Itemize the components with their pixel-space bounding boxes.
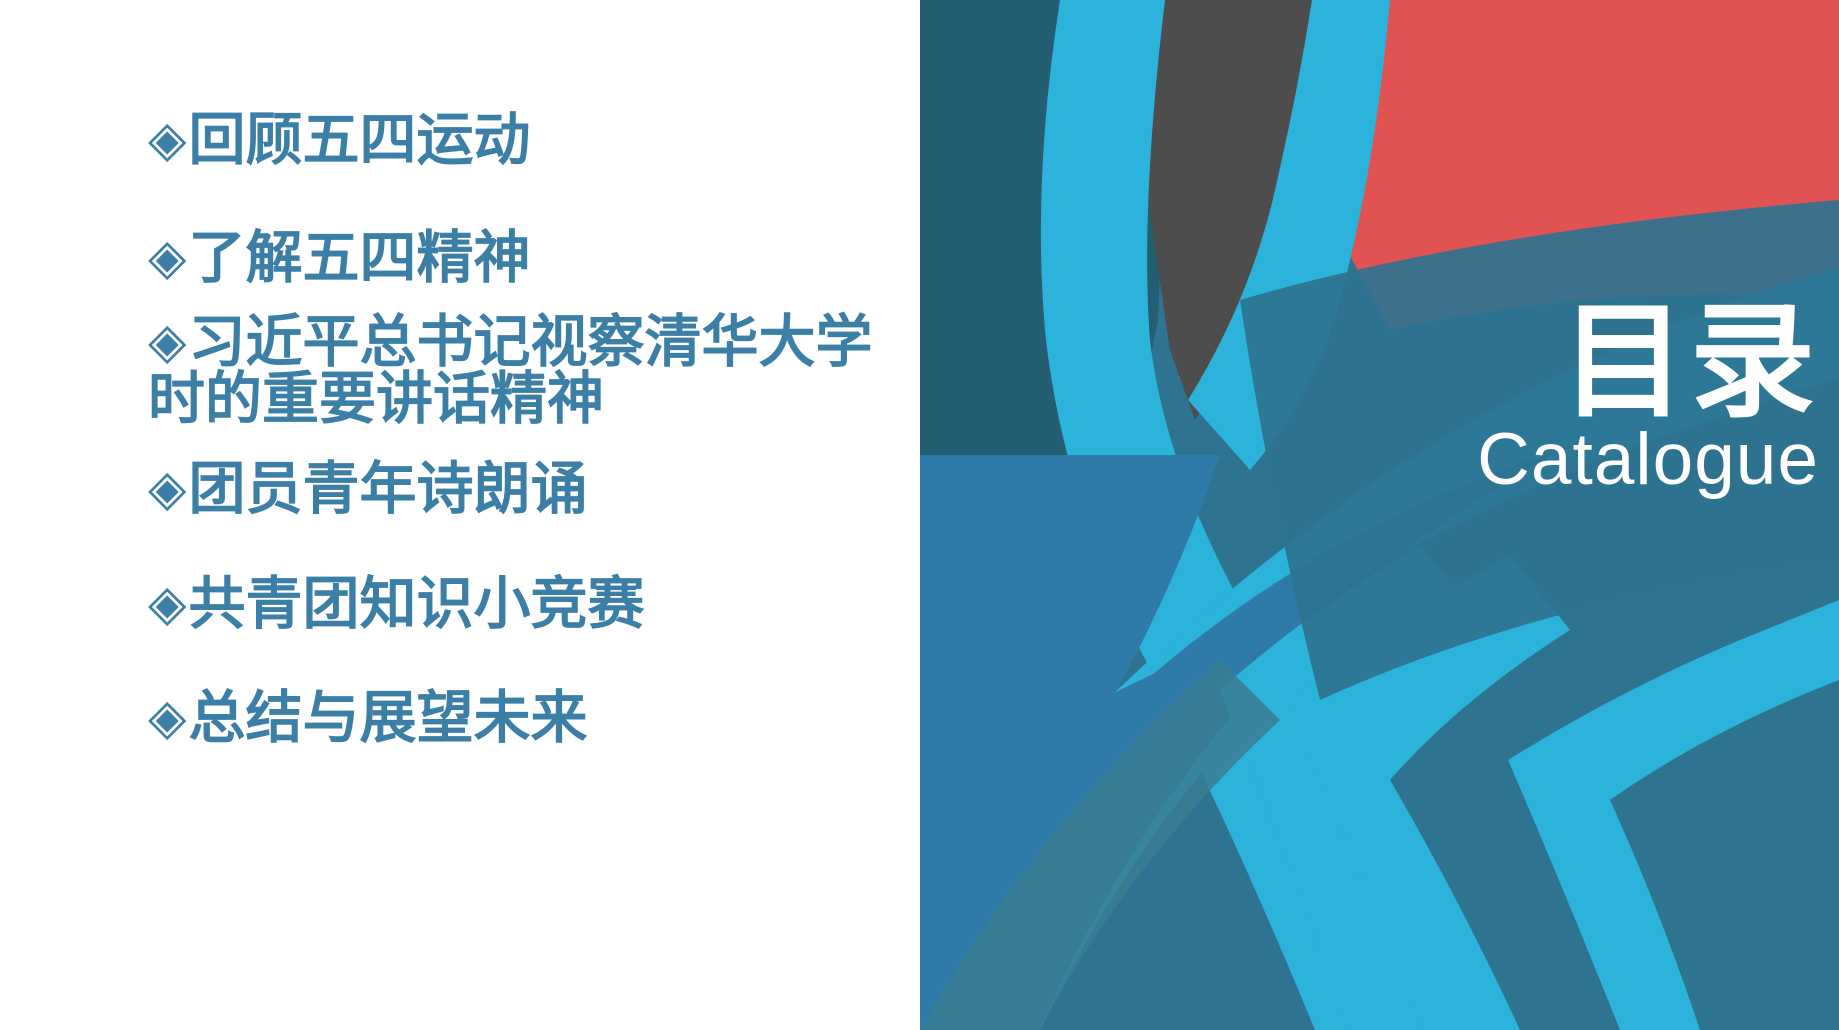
agenda-item-label: 团员青年诗朗诵 <box>188 457 587 521</box>
diamond-bullet-icon: ◈ <box>148 313 186 369</box>
agenda-panel: ◈回顾五四运动 ◈了解五四精神 ◈习近平总书记视察清华大学时的重要讲话精神 ◈团… <box>0 0 920 1030</box>
artwork-panel: 目录 Catalogue <box>920 0 1839 1030</box>
diamond-bullet-icon: ◈ <box>148 229 186 285</box>
agenda-item-label: 习近平总书记视察清华大学时的重要讲话精神 <box>148 310 872 431</box>
diamond-bullet-icon: ◈ <box>148 460 186 516</box>
agenda-item-5[interactable]: ◈共青团知识小竞赛 <box>148 576 908 633</box>
slide-root: ◈回顾五四运动 ◈了解五四精神 ◈习近平总书记视察清华大学时的重要讲话精神 ◈团… <box>0 0 1839 1030</box>
agenda-item-3[interactable]: ◈习近平总书记视察清华大学时的重要讲话精神 <box>148 314 908 428</box>
agenda-item-2[interactable]: ◈了解五四精神 <box>148 230 908 287</box>
agenda-item-label: 回顾五四运动 <box>188 108 530 172</box>
agenda-list: ◈回顾五四运动 ◈了解五四精神 ◈习近平总书记视察清华大学时的重要讲话精神 ◈团… <box>148 112 908 747</box>
agenda-item-4[interactable]: ◈团员青年诗朗诵 <box>148 461 908 518</box>
diamond-bullet-icon: ◈ <box>148 575 186 631</box>
agenda-item-6[interactable]: ◈总结与展望未来 <box>148 690 908 747</box>
diamond-bullet-icon: ◈ <box>148 111 186 167</box>
abstract-ribbon-graphic <box>920 0 1839 1030</box>
agenda-item-label: 共青团知识小竞赛 <box>188 572 644 636</box>
agenda-item-1[interactable]: ◈回顾五四运动 <box>148 112 908 169</box>
agenda-item-label: 总结与展望未来 <box>188 686 587 750</box>
agenda-item-label: 了解五四精神 <box>188 226 530 290</box>
diamond-bullet-icon: ◈ <box>148 689 186 745</box>
